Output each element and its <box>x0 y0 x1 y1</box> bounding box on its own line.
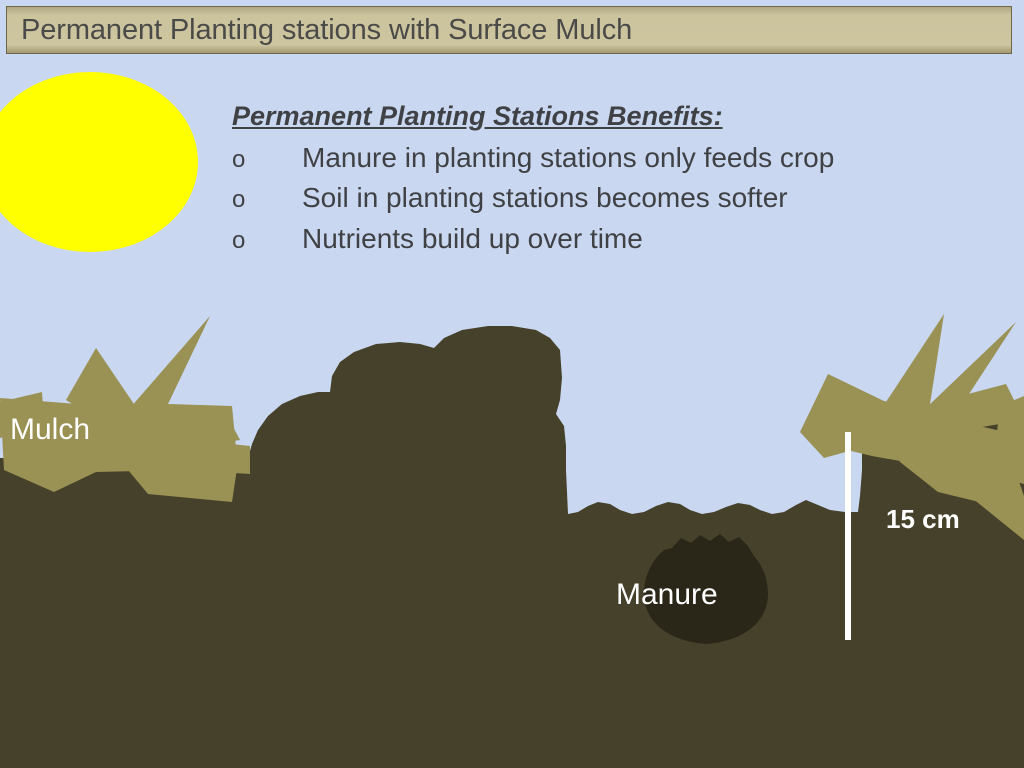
slide-title-bar: Permanent Planting stations with Surface… <box>6 6 1012 54</box>
benefit-item: o Manure in planting stations only feeds… <box>232 138 992 179</box>
benefit-item-label: Manure in planting stations only feeds c… <box>302 138 834 179</box>
benefit-item-label: Nutrients build up over time <box>302 219 643 260</box>
slide-canvas: Permanent Planting stations with Surface… <box>0 0 1024 768</box>
benefit-item-label: Soil in planting stations becomes softer <box>302 178 788 219</box>
bullet-circle-icon: o <box>232 224 302 259</box>
depth-label: 15 cm <box>886 504 960 535</box>
bullet-circle-icon: o <box>232 183 302 218</box>
benefit-item: o Soil in planting stations becomes soft… <box>232 178 992 219</box>
depth-measure-line <box>845 432 851 640</box>
page-title: Permanent Planting stations with Surface… <box>7 14 632 47</box>
benefits-block: Permanent Planting Stations Benefits: o … <box>232 100 992 260</box>
bullet-circle-icon: o <box>232 143 302 178</box>
benefit-item: o Nutrients build up over time <box>232 219 992 260</box>
benefits-heading: Permanent Planting Stations Benefits: <box>232 100 992 134</box>
mulch-label: Mulch <box>10 413 90 447</box>
manure-label: Manure <box>616 578 718 612</box>
